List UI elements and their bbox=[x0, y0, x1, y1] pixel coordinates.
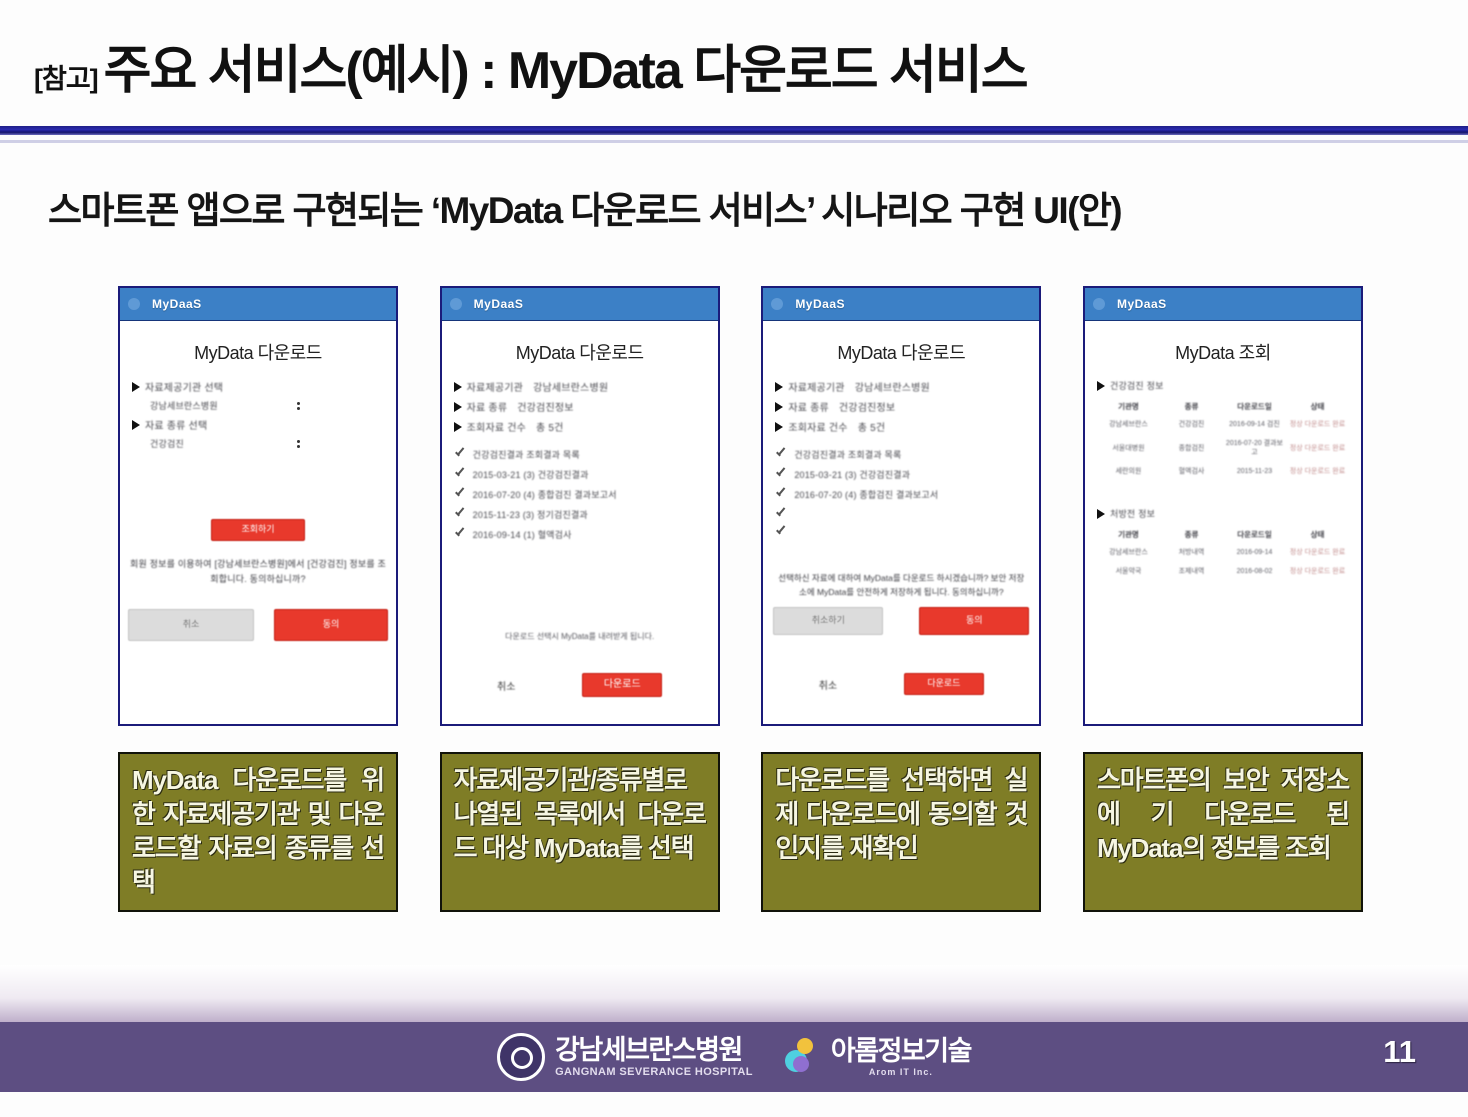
info-label-type: 자료 종류 bbox=[788, 399, 829, 414]
list-item-label: 2016-09-14 (1) 혈액검사 bbox=[473, 528, 572, 541]
app-header-bar-1: MyDaaS bbox=[120, 288, 396, 321]
hospital-logo-icon bbox=[497, 1033, 545, 1081]
hospital-name-ko: 강남세브란스병원 bbox=[555, 1037, 753, 1064]
bullet-triangle-icon bbox=[454, 382, 462, 392]
bullet-triangle-icon bbox=[454, 422, 462, 432]
col-institution: 기관명 bbox=[1097, 398, 1160, 415]
cell-institution: 서울대병원 bbox=[1097, 434, 1160, 462]
kebab-menu-icon[interactable] bbox=[297, 440, 300, 448]
cell-status: 정상 다운로드 완료 bbox=[1286, 543, 1349, 562]
app-header-bar-2: MyDaaS bbox=[442, 288, 718, 321]
action-row-2: 취소 다운로드 bbox=[464, 673, 696, 697]
cancel-button[interactable]: 취소 bbox=[819, 677, 837, 692]
dropdown-type[interactable]: 건강검진 bbox=[150, 437, 300, 450]
checkbox-icon[interactable] bbox=[775, 526, 786, 537]
phone-mockup-row: MyDaaS MyData 다운로드 자료제공기관 선택 강남세브란스병원 자료… bbox=[118, 286, 1363, 734]
table-row[interactable]: 서울약국 조제내역 2016-08-02 정상 다운로드 완료 bbox=[1097, 562, 1349, 581]
group-header-1: 건강검진 정보 bbox=[1097, 379, 1349, 392]
caption-text-2: 자료제공기관/종류별로 나열된 목록에서 다운로드 대상 MyData를 선택 bbox=[454, 763, 706, 865]
bullet-triangle-icon bbox=[132, 420, 140, 430]
phone-mockup-2: MyDaaS MyData 다운로드 자료제공기관 강남세브란스병원 자료 종류… bbox=[440, 286, 720, 726]
screen-title-3: MyData 다운로드 bbox=[775, 339, 1027, 365]
bullet-triangle-icon bbox=[454, 402, 462, 412]
selector-label-row-provider: 자료제공기관 선택 bbox=[132, 379, 384, 394]
info-row-count: 조회자료 건수 총 5건 bbox=[775, 419, 1027, 434]
page-number: 11 bbox=[1383, 1034, 1416, 1070]
selector-label-row-type: 자료 종류 선택 bbox=[132, 417, 384, 432]
info-value-count: 총 5건 bbox=[858, 419, 886, 434]
bullet-triangle-icon bbox=[775, 402, 783, 412]
info-label-provider: 자료제공기관 bbox=[467, 379, 523, 394]
app-header-bar-3: MyDaaS bbox=[763, 288, 1039, 321]
vendor-name-ko: 아롬정보기술 bbox=[831, 1038, 971, 1065]
info-value-provider: 강남세브란스병원 bbox=[855, 379, 930, 394]
vendor-name-en: Arom IT Inc. bbox=[831, 1068, 971, 1077]
col-status: 상태 bbox=[1286, 398, 1349, 415]
selector-label-type: 자료 종류 선택 bbox=[145, 417, 207, 432]
list-item[interactable] bbox=[775, 508, 1027, 519]
bullet-triangle-icon bbox=[1097, 381, 1105, 391]
cell-date: 2016-09-14 bbox=[1223, 543, 1286, 562]
col-download-date: 다운로드일 bbox=[1223, 526, 1286, 543]
app-title-4: MyDaaS bbox=[1117, 297, 1167, 311]
col-type: 종류 bbox=[1160, 398, 1223, 415]
list-item[interactable]: 2015-03-21 (3) 건강검진결과 bbox=[454, 468, 706, 481]
info-row-type: 자료 종류 건강검진정보 bbox=[775, 399, 1027, 414]
list-item-label: 2015-03-21 (3) 건강검진결과 bbox=[473, 468, 589, 481]
cell-date: 2015-11-23 bbox=[1223, 462, 1286, 481]
dialog-cancel-button[interactable]: 취소하기 bbox=[773, 607, 883, 635]
cancel-button[interactable]: 취소 bbox=[497, 678, 515, 693]
logo-vendor: 아롬정보기술 Arom IT Inc. bbox=[783, 1038, 971, 1077]
phone-screen-3: MyData 다운로드 자료제공기관 강남세브란스병원 자료 종류 건강검진정보… bbox=[763, 321, 1039, 724]
checkbox-icon[interactable] bbox=[454, 488, 465, 499]
action-row-3: 취소 다운로드 bbox=[785, 673, 1017, 695]
phone-screen-1: MyData 다운로드 자료제공기관 선택 강남세브란스병원 자료 종류 선택 … bbox=[120, 321, 396, 724]
checkbox-icon[interactable] bbox=[775, 508, 786, 519]
title-tag: [참고] bbox=[34, 57, 98, 96]
caption-box-3: 다운로드를 선택하면 실제 다운로드에 동의할 것인지를 재확인 bbox=[761, 752, 1041, 912]
record-checkbox-list-2: 건강검진결과 조회결과 목록 2015-03-21 (3) 건강검진결과 201… bbox=[454, 448, 706, 541]
list-item-label: 2015-03-21 (3) 건강검진결과 bbox=[794, 468, 910, 481]
slide-footer: 강남세브란스병원 GANGNAM SEVERANCE HOSPITAL 아롬정보… bbox=[0, 1022, 1468, 1092]
cell-status: 정상 다운로드 완료 bbox=[1286, 415, 1349, 434]
list-item-label: 2016-07-20 (4) 종합검진 결과보고서 bbox=[473, 488, 617, 501]
checkbox-icon[interactable] bbox=[775, 448, 786, 459]
table-row[interactable]: 서울대병원 종합검진 2016-07-20 결과보고 정상 다운로드 완료 bbox=[1097, 434, 1349, 462]
cell-type: 조제내역 bbox=[1160, 562, 1223, 581]
page-title: 주요 서비스(예시) : MyData 다운로드 서비스 bbox=[104, 28, 1027, 103]
agree-button[interactable]: 동의 bbox=[274, 609, 388, 641]
col-institution: 기관명 bbox=[1097, 526, 1160, 543]
dialog-action-row: 취소하기 동의 bbox=[769, 607, 1033, 635]
dropdown-type-value: 건강검진 bbox=[150, 437, 184, 450]
app-logo-icon bbox=[1093, 298, 1105, 310]
search-button[interactable]: 조회하기 bbox=[211, 519, 305, 541]
cell-date: 2016-08-02 bbox=[1223, 562, 1286, 581]
list-item[interactable]: 2015-03-21 (3) 건강검진결과 bbox=[775, 468, 1027, 481]
info-label-provider: 자료제공기관 bbox=[788, 379, 844, 394]
vendor-logo-icon bbox=[783, 1038, 821, 1076]
title-divider-secondary bbox=[0, 140, 1468, 143]
dropdown-provider-value: 강남세브란스병원 bbox=[150, 399, 218, 412]
title-divider bbox=[0, 126, 1468, 135]
list-item[interactable]: 2016-09-14 (1) 혈액검사 bbox=[454, 528, 706, 541]
hospital-name-en: GANGNAM SEVERANCE HOSPITAL bbox=[555, 1067, 753, 1078]
logo-hospital: 강남세브란스병원 GANGNAM SEVERANCE HOSPITAL bbox=[497, 1033, 753, 1081]
cell-institution: 세란의원 bbox=[1097, 462, 1160, 481]
bullet-triangle-icon bbox=[775, 422, 783, 432]
caption-box-1: MyData 다운로드를 위한 자료제공기관 및 다운로드할 자료의 종류를 선… bbox=[118, 752, 398, 912]
info-row-provider: 자료제공기관 강남세브란스병원 bbox=[775, 379, 1027, 394]
cancel-button[interactable]: 취소 bbox=[128, 609, 254, 641]
cell-type: 종합검진 bbox=[1160, 434, 1223, 462]
list-item[interactable]: 건강검진결과 조회결과 목록 bbox=[775, 448, 1027, 461]
cell-type: 건강검진 bbox=[1160, 415, 1223, 434]
kebab-menu-icon[interactable] bbox=[297, 402, 300, 410]
checkbox-icon[interactable] bbox=[454, 448, 465, 459]
screen-title-1: MyData 다운로드 bbox=[132, 339, 384, 365]
consent-action-row: 취소 동의 bbox=[128, 609, 388, 641]
download-button[interactable]: 다운로드 bbox=[582, 673, 662, 697]
cell-status: 정상 다운로드 완료 bbox=[1286, 462, 1349, 481]
cell-date: 2016-07-20 결과보고 bbox=[1223, 434, 1286, 462]
records-table-1: 기관명 종류 다운로드일 상태 강남세브란스 건강검진 2016-09-14 검… bbox=[1097, 398, 1349, 481]
list-item-label: 2015-11-23 (3) 정기검진결과 bbox=[473, 508, 588, 521]
cell-type: 혈액검사 bbox=[1160, 462, 1223, 481]
record-checkbox-list-3: 건강검진결과 조회결과 목록 2015-03-21 (3) 건강검진결과 201… bbox=[775, 448, 1027, 537]
checkbox-icon[interactable] bbox=[454, 468, 465, 479]
table-header-row: 기관명 종류 다운로드일 상태 bbox=[1097, 398, 1349, 415]
app-title-1: MyDaaS bbox=[152, 297, 202, 311]
app-title-2: MyDaaS bbox=[474, 297, 524, 311]
info-value-count: 총 5건 bbox=[536, 419, 564, 434]
dialog-agree-button[interactable]: 동의 bbox=[919, 607, 1029, 635]
download-note-text: 다운로드 선택시 MyData를 내려받게 됩니다. bbox=[452, 631, 708, 642]
list-item-label: 건강검진결과 조회결과 목록 bbox=[473, 448, 580, 461]
phone-mockup-1: MyDaaS MyData 다운로드 자료제공기관 선택 강남세브란스병원 자료… bbox=[118, 286, 398, 726]
caption-box-4: 스마트폰의 보안 저장소에 기 다운로드 된 MyData의 정보를 조회 bbox=[1083, 752, 1363, 912]
table-row[interactable]: 강남세브란스 건강검진 2016-09-14 검진 정상 다운로드 완료 bbox=[1097, 415, 1349, 434]
list-item[interactable]: 2015-11-23 (3) 정기검진결과 bbox=[454, 508, 706, 521]
screen-title-2: MyData 다운로드 bbox=[454, 339, 706, 365]
info-label-type: 자료 종류 bbox=[467, 399, 508, 414]
caption-box-2: 자료제공기관/종류별로 나열된 목록에서 다운로드 대상 MyData를 선택 bbox=[440, 752, 720, 912]
info-label-count: 조회자료 건수 bbox=[788, 419, 847, 434]
group-header-2: 처방전 정보 bbox=[1097, 507, 1349, 520]
group-title-1: 건강검진 정보 bbox=[1110, 379, 1164, 392]
slide-title-row: [참고] 주요 서비스(예시) : MyData 다운로드 서비스 bbox=[0, 10, 1468, 120]
bullet-triangle-icon bbox=[132, 382, 140, 392]
footer-logos: 강남세브란스병원 GANGNAM SEVERANCE HOSPITAL 아롬정보… bbox=[497, 1033, 971, 1081]
table-row[interactable]: 세란의원 혈액검사 2015-11-23 정상 다운로드 완료 bbox=[1097, 462, 1349, 481]
checkbox-icon[interactable] bbox=[775, 468, 786, 479]
phone-screen-4: MyData 조회 건강검진 정보 기관명 종류 다운로드일 상태 강남세브란스 bbox=[1085, 321, 1361, 724]
col-type: 종류 bbox=[1160, 526, 1223, 543]
download-button[interactable]: 다운로드 bbox=[904, 673, 984, 695]
info-value-provider: 강남세브란스병원 bbox=[533, 379, 608, 394]
col-download-date: 다운로드일 bbox=[1223, 398, 1286, 415]
list-item[interactable]: 2016-07-20 (4) 종합검진 결과보고서 bbox=[454, 488, 706, 501]
phone-mockup-3: MyDaaS MyData 다운로드 자료제공기관 강남세브란스병원 자료 종류… bbox=[761, 286, 1041, 726]
cell-institution: 서울약국 bbox=[1097, 562, 1160, 581]
checkbox-icon[interactable] bbox=[454, 528, 465, 539]
phone-screen-2: MyData 다운로드 자료제공기관 강남세브란스병원 자료 종류 건강검진정보… bbox=[442, 321, 718, 724]
dropdown-provider[interactable]: 강남세브란스병원 bbox=[150, 399, 300, 412]
app-title-3: MyDaaS bbox=[795, 297, 845, 311]
records-table-2: 기관명 종류 다운로드일 상태 강남세브란스 처방내역 2016-09-14 정… bbox=[1097, 526, 1349, 581]
info-row-count: 조회자료 건수 총 5건 bbox=[454, 419, 706, 434]
table-row[interactable]: 강남세브란스 처방내역 2016-09-14 정상 다운로드 완료 bbox=[1097, 543, 1349, 562]
cell-status: 정상 다운로드 완료 bbox=[1286, 562, 1349, 581]
selector-label-provider: 자료제공기관 선택 bbox=[145, 379, 223, 394]
caption-row: MyData 다운로드를 위한 자료제공기관 및 다운로드할 자료의 종류를 선… bbox=[118, 752, 1363, 914]
consent-notice-text: 회원 정보를 이용하여 [강남세브란스병원]에서 [건강검진] 정보를 조회합니… bbox=[130, 557, 386, 587]
info-value-type: 건강검진정보 bbox=[839, 399, 895, 414]
dialog-message: 선택하신 자료에 대하여 MyData를 다운로드 하시겠습니까? 보안 저장소… bbox=[769, 571, 1033, 599]
list-item[interactable] bbox=[775, 526, 1027, 537]
app-logo-icon bbox=[450, 298, 462, 310]
caption-text-1: MyData 다운로드를 위한 자료제공기관 및 다운로드할 자료의 종류를 선… bbox=[132, 763, 384, 899]
subtitle: 스마트폰 앱으로 구현되는 ‘MyData 다운로드 서비스’ 시나리오 구현 … bbox=[48, 180, 1448, 234]
cell-date: 2016-09-14 검진 bbox=[1223, 415, 1286, 434]
info-row-provider: 자료제공기관 강남세브란스병원 bbox=[454, 379, 706, 394]
list-item[interactable]: 2016-07-20 (4) 종합검진 결과보고서 bbox=[775, 488, 1027, 501]
list-item-label: 2016-07-20 (4) 종합검진 결과보고서 bbox=[794, 488, 938, 501]
app-logo-icon bbox=[771, 298, 783, 310]
screen-title-4: MyData 조회 bbox=[1097, 339, 1349, 365]
slide-root: [참고] 주요 서비스(예시) : MyData 다운로드 서비스 스마트폰 앱… bbox=[0, 0, 1468, 1117]
info-row-type: 자료 종류 건강검진정보 bbox=[454, 399, 706, 414]
phone-mockup-4: MyDaaS MyData 조회 건강검진 정보 기관명 종류 다운로드일 상태 bbox=[1083, 286, 1363, 726]
cell-status: 정상 다운로드 완료 bbox=[1286, 434, 1349, 462]
group-title-2: 처방전 정보 bbox=[1110, 507, 1155, 520]
table-header-row: 기관명 종류 다운로드일 상태 bbox=[1097, 526, 1349, 543]
cell-institution: 강남세브란스 bbox=[1097, 415, 1160, 434]
col-status: 상태 bbox=[1286, 526, 1349, 543]
checkbox-icon[interactable] bbox=[454, 508, 465, 519]
footer-gradient bbox=[0, 965, 1468, 1025]
app-logo-icon bbox=[128, 298, 140, 310]
cell-institution: 강남세브란스 bbox=[1097, 543, 1160, 562]
confirm-dialog: 선택하신 자료에 대하여 MyData를 다운로드 하시겠습니까? 보안 저장소… bbox=[769, 571, 1033, 635]
caption-text-4: 스마트폰의 보안 저장소에 기 다운로드 된 MyData의 정보를 조회 bbox=[1097, 763, 1349, 865]
info-label-count: 조회자료 건수 bbox=[467, 419, 526, 434]
list-item-label: 건강검진결과 조회결과 목록 bbox=[794, 448, 901, 461]
bullet-triangle-icon bbox=[775, 382, 783, 392]
caption-text-3: 다운로드를 선택하면 실제 다운로드에 동의할 것인지를 재확인 bbox=[775, 763, 1027, 865]
checkbox-icon[interactable] bbox=[775, 488, 786, 499]
app-header-bar-4: MyDaaS bbox=[1085, 288, 1361, 321]
info-value-type: 건강검진정보 bbox=[517, 399, 573, 414]
bullet-triangle-icon bbox=[1097, 509, 1105, 519]
list-item[interactable]: 건강검진결과 조회결과 목록 bbox=[454, 448, 706, 461]
cell-type: 처방내역 bbox=[1160, 543, 1223, 562]
